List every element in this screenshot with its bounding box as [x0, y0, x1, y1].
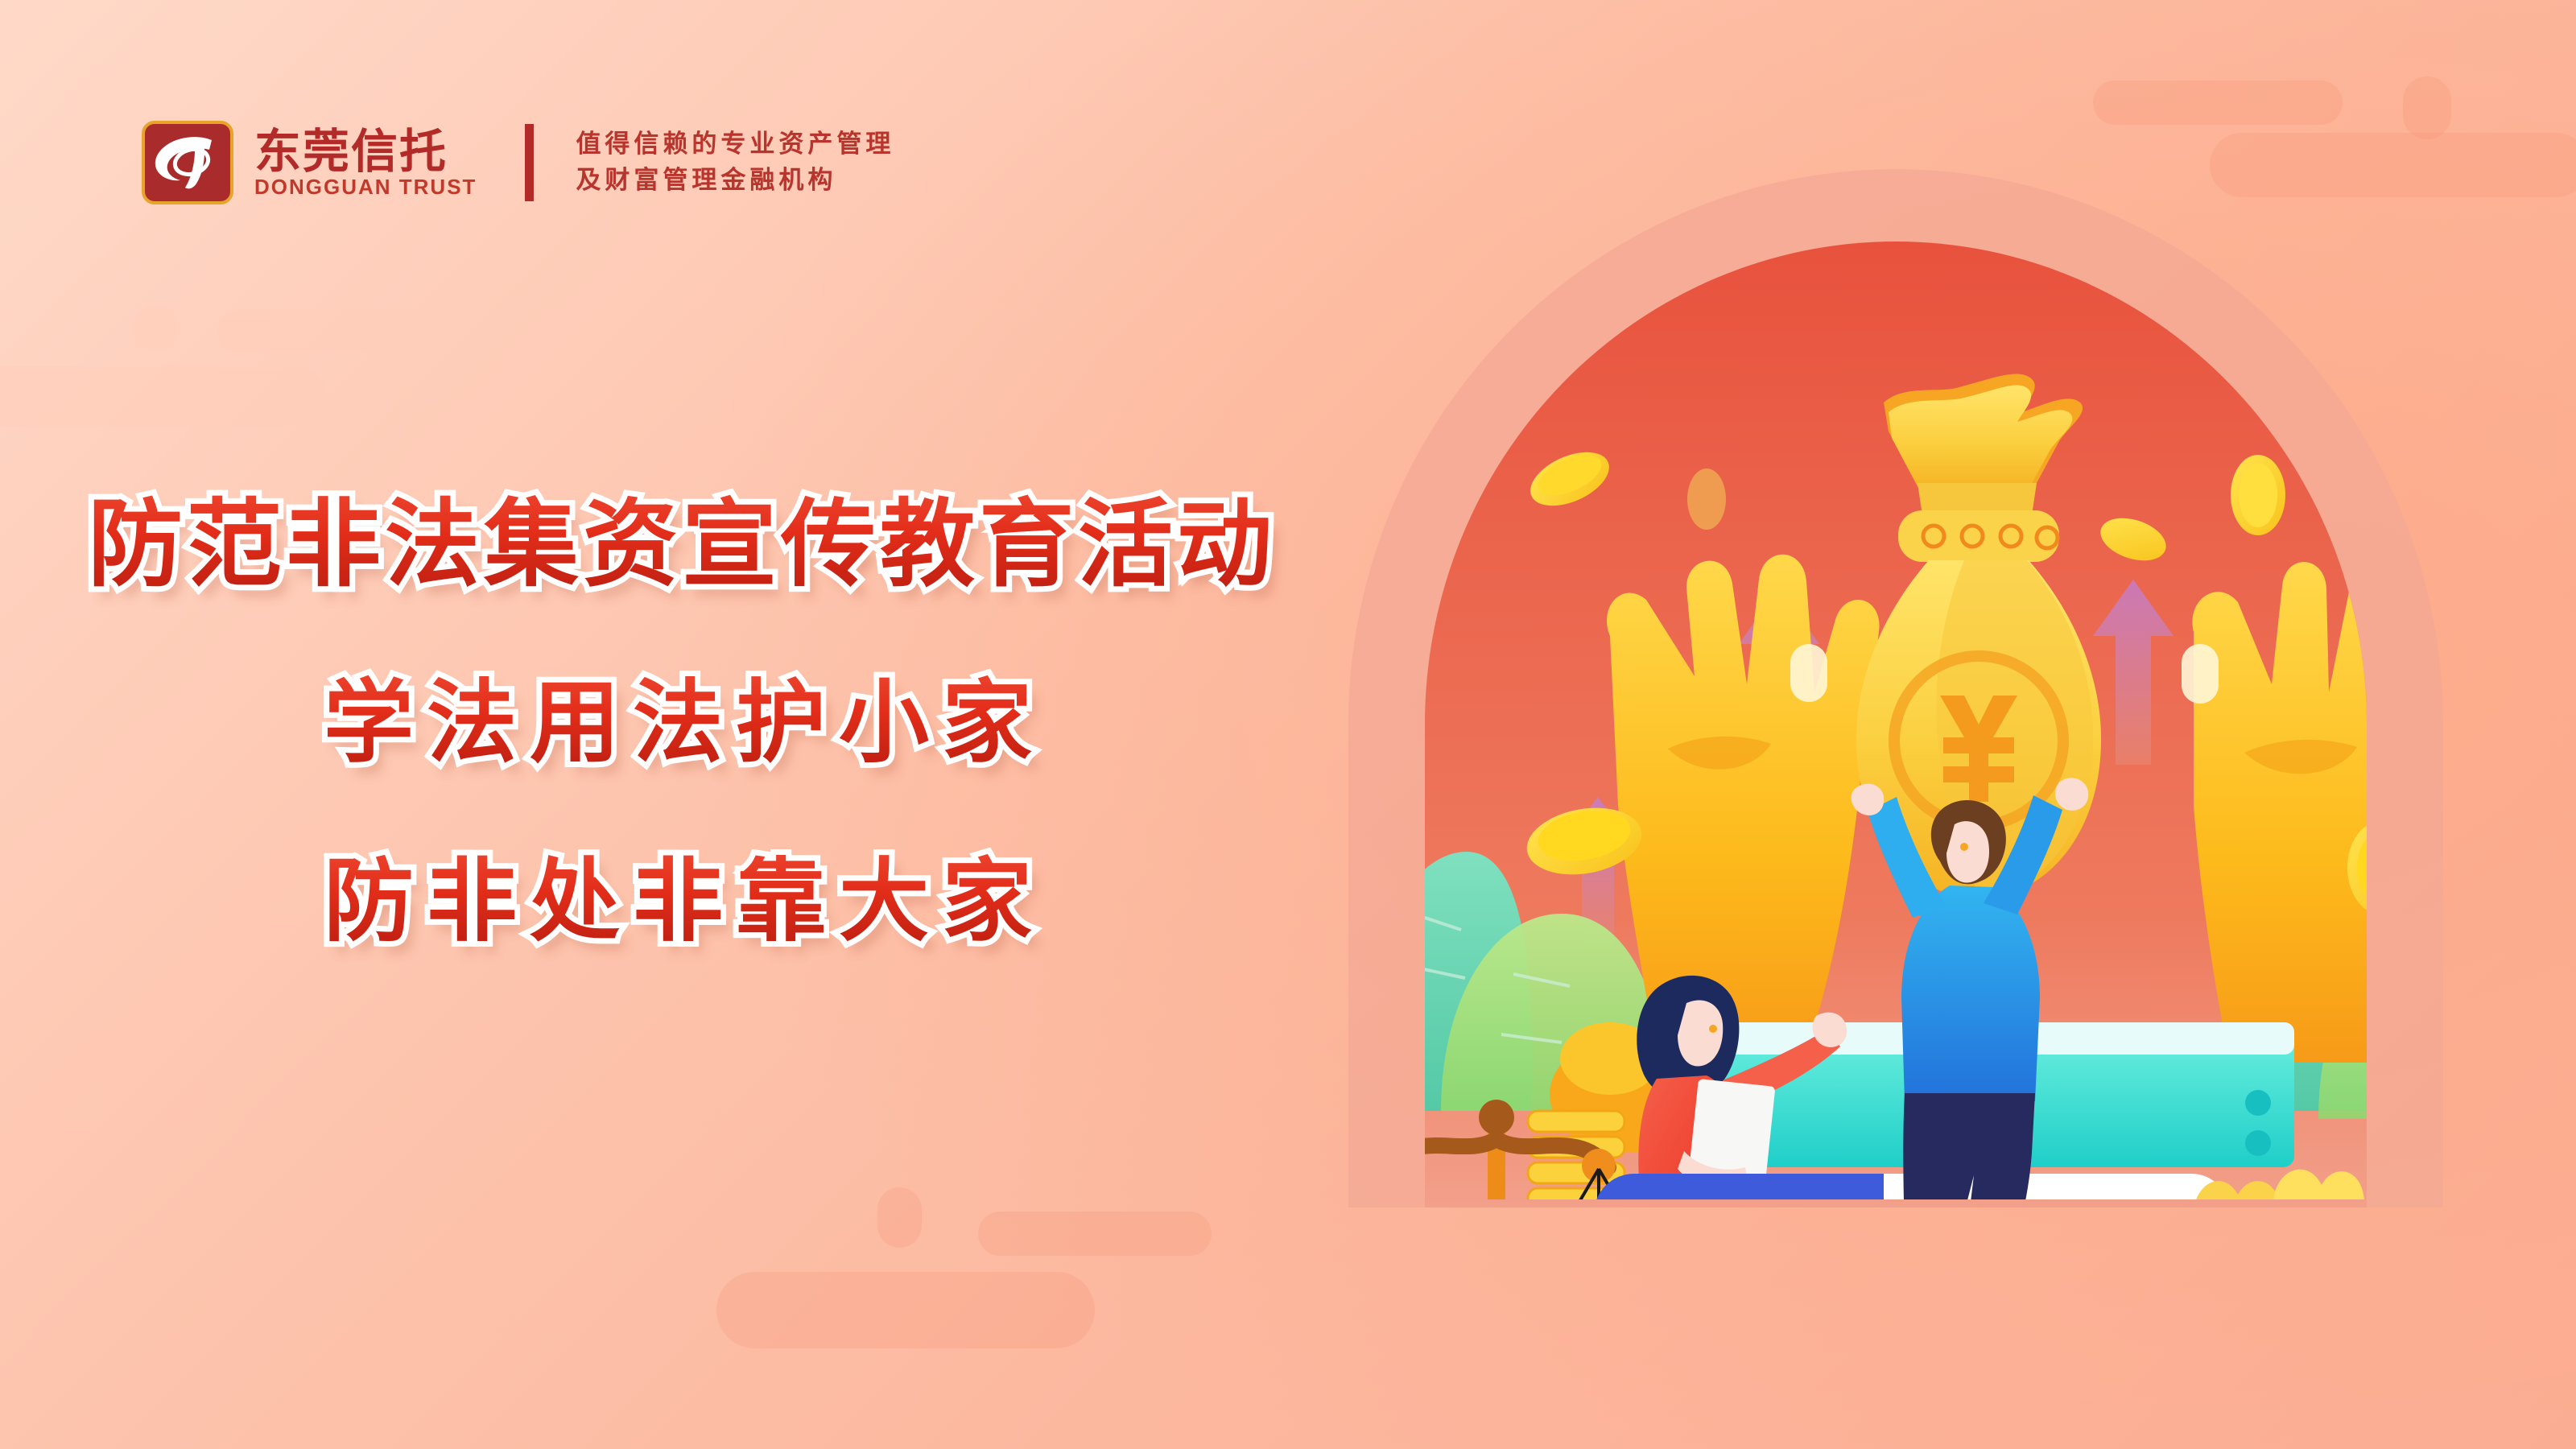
headline-line-3: 防非处非靠大家 防非处非靠大家	[0, 828, 1368, 959]
deco-bar-top-right-1	[2093, 80, 2343, 125]
deco-bar-left-1	[217, 310, 451, 352]
brand-header: 东莞信托 DONGGUAN TRUST 值得信赖的专业资产管理 及财富管理金融机…	[142, 121, 894, 204]
brand-slogan-line2: 及财富管理金融机构	[576, 168, 894, 193]
deco-bar-bottom-2	[716, 1272, 1095, 1348]
dongguan-trust-logo-icon	[142, 121, 233, 204]
headline-line-1-text: 防范非法集资宣传教育活动	[0, 467, 1368, 605]
headline-line-2: 学法用法护小家 学法用法护小家	[0, 650, 1368, 780]
brand-slogan: 值得信赖的专业资产管理 及财富管理金融机构	[576, 132, 894, 193]
brand-name-en: DONGGUAN TRUST	[254, 176, 477, 197]
deco-dot-top-right	[2403, 76, 2451, 139]
brand-name-cn: 东莞信托	[254, 128, 477, 175]
headline-line-2-text: 学法用法护小家	[0, 650, 1368, 780]
deco-bar-bottom-1	[978, 1212, 1212, 1256]
headline-block: 防范非法集资宣传教育活动 防范非法集资宣传教育活动 学法用法护小家 学法用法护小…	[0, 467, 1368, 959]
poster-canvas: 东莞信托 DONGGUAN TRUST 值得信赖的专业资产管理 及财富管理金融机…	[0, 0, 2576, 1449]
deco-bar-left-2	[0, 366, 326, 427]
headline-line-3-text: 防非处非靠大家	[0, 828, 1368, 959]
brand-slogan-line1: 值得信赖的专业资产管理	[576, 132, 894, 157]
deco-dot-left	[133, 306, 180, 350]
brand-divider	[525, 124, 534, 201]
deco-dot-bottom	[877, 1187, 922, 1248]
headline-line-1: 防范非法集资宣传教育活动 防范非法集资宣传教育活动	[0, 467, 1368, 605]
brand-wordmark: 东莞信托 DONGGUAN TRUST	[254, 128, 477, 197]
anti-illegal-fundraising-illustration	[1320, 161, 2471, 1288]
